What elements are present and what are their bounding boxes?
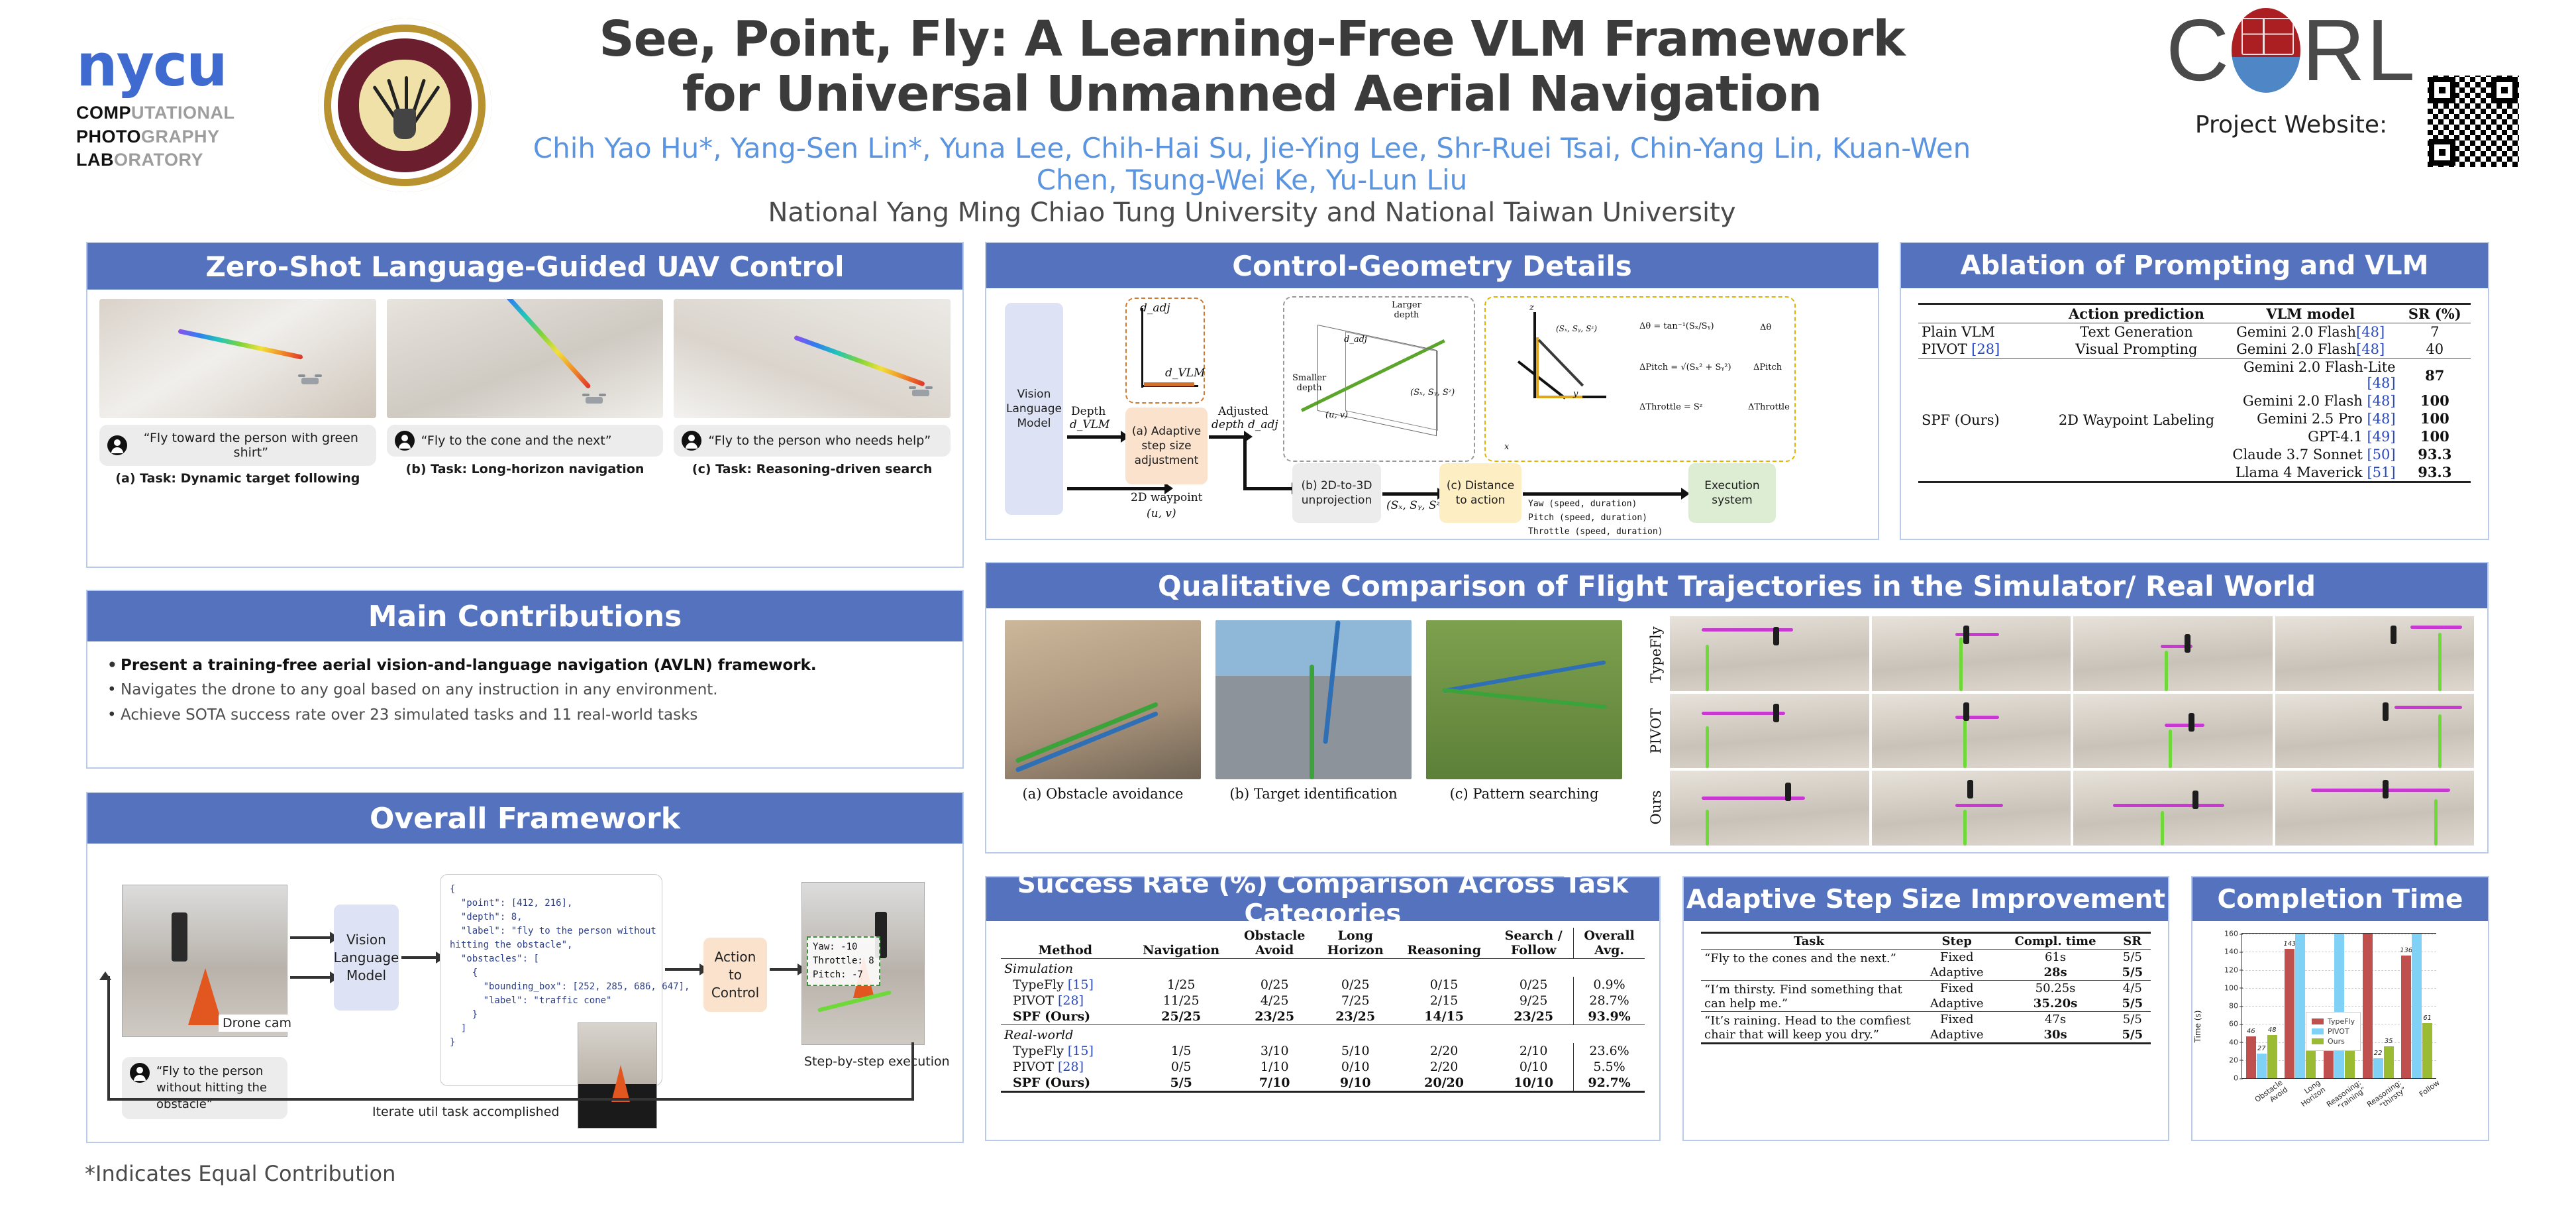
- cpl-line-1: COMPUTATIONAL: [76, 101, 295, 125]
- geometry-coords-label: (Sₓ, Sᵧ, Sᶻ): [1386, 499, 1445, 512]
- list-item: Navigates the drone to any goal based on…: [106, 678, 944, 702]
- cell-value: 1/5: [1129, 1043, 1233, 1059]
- geometry-sxyz-3d-label: (Sₓ, Sᵧ, Sᶻ): [1556, 324, 1597, 333]
- cell-method: SPF (Ours): [1001, 1075, 1129, 1092]
- table-row: “Fly to the cones and the next.” Fixed 6…: [1701, 950, 2151, 965]
- nycu-logo: nycu COMPUTATIONAL PHOTOGRAPHY LABORATOR…: [76, 36, 295, 172]
- cell-value: 5/10: [1316, 1043, 1394, 1059]
- chart-legend-item: Ours: [2312, 1037, 2355, 1046]
- chart-legend: TypeFlyPIVOTOurs: [2306, 1012, 2361, 1051]
- qual-grid-cell: [2275, 771, 2475, 846]
- cell-value: 0/25: [1233, 977, 1317, 993]
- cell-value: 9/25: [1494, 993, 1573, 1009]
- title-line-2: for Universal Unmanned Aerial Navigation: [503, 67, 2000, 122]
- title-block: See, Point, Fly: A Learning-Free VLM Fra…: [503, 12, 2000, 228]
- cell-value: 1/10: [1233, 1059, 1317, 1075]
- geometry-axis-z: z: [1529, 303, 1534, 313]
- cell-value: 0/10: [1494, 1059, 1573, 1075]
- cell-avg: 92.7%: [1574, 1075, 1645, 1092]
- col-compl-time: Compl. time: [1997, 933, 2114, 950]
- cell-method: TypeFly [15]: [1001, 1043, 1129, 1059]
- cell-sr: 7: [2399, 323, 2471, 341]
- chart-bar-value: 46: [2247, 1028, 2255, 1035]
- cpl-lab-wordmark: COMPUTATIONAL PHOTOGRAPHY LABORATORY: [76, 101, 295, 172]
- zeroshot-cell-a: “Fly toward the person with green shirt”…: [99, 299, 376, 486]
- corl-globe-icon: [2232, 8, 2300, 93]
- framework-step-execution-label: Step-by-step execution: [804, 1054, 950, 1069]
- cpl-line-2: PHOTOGRAPHY: [76, 125, 295, 149]
- panel-overall-framework: Overall Framework Drone cam “Fly to the …: [86, 792, 964, 1143]
- cell-model: Gemini 2.0 Flash [48]: [2222, 392, 2399, 410]
- cell-value: 7/10: [1233, 1075, 1317, 1092]
- cell-sr: 5/5: [2114, 965, 2151, 981]
- table-ablation: Action prediction VLM model SR (%) Plain…: [1918, 303, 2471, 483]
- geometry-eq-pitch: ΔPitch = √(Sₓ² + Sᵧ²): [1639, 362, 1731, 372]
- panel-completion-time: Completion Time Time (s) 020406080100120…: [2191, 876, 2489, 1141]
- qual-cell-a: (a) Obstacle avoidance: [1005, 620, 1201, 852]
- geometry-distance-box: (c) Distance to action: [1439, 463, 1521, 523]
- chart-bar: 136: [2401, 956, 2411, 1078]
- qual-grid-cell: [1872, 771, 2071, 846]
- zeroshot-caption-c: (c) Task: Reasoning-driven search: [674, 462, 951, 476]
- geometry-label-theta: Δθ: [1760, 323, 1771, 333]
- panel-title-framework: Overall Framework: [87, 793, 962, 844]
- cell-value: 3/10: [1233, 1043, 1317, 1059]
- geometry-waypoint-label: 2D waypoint: [1131, 491, 1202, 504]
- poster-header: nycu COMPUTATIONAL PHOTOGRAPHY LABORATOR…: [0, 0, 2576, 225]
- chart-bar: [2412, 934, 2422, 1078]
- panel-title-success-rate: Success Rate (%) Comparison Across Task …: [986, 877, 1659, 921]
- geometry-smaller-depth-label: Smaller depth: [1292, 373, 1326, 393]
- chart-bar: 143: [2285, 949, 2294, 1078]
- person-icon: [395, 431, 415, 451]
- panel-adaptive-step-size: Adaptive Step Size Improvement Task Step…: [1682, 876, 2169, 1141]
- zeroshot-cell-c: “Fly to the person who needs help” (c) T…: [674, 299, 951, 486]
- chart-bar-value: 61: [2423, 1015, 2432, 1022]
- col-long-horizon: Long Horizon: [1316, 928, 1394, 959]
- cell-value: 0/25: [1494, 977, 1573, 993]
- cell-sr: 93.3: [2399, 463, 2471, 482]
- cell-value: 0/5: [1129, 1059, 1233, 1075]
- cell-value: 20/20: [1394, 1075, 1494, 1092]
- person-icon: [682, 431, 701, 451]
- legend-label: Ours: [2328, 1037, 2345, 1046]
- geometry-depth-label: Depth: [1071, 405, 1106, 418]
- cell-value: 2/15: [1394, 993, 1494, 1009]
- group-header-row: Real-world: [1001, 1025, 1645, 1044]
- chart-bar: [2363, 934, 2373, 1078]
- cell-value: 23/25: [1494, 1009, 1573, 1025]
- col-reasoning: Reasoning: [1394, 928, 1494, 959]
- geometry-label-pitch: ΔPitch: [1753, 362, 1782, 372]
- cell-sr: 40: [2399, 341, 2471, 358]
- cell-value: 23/25: [1316, 1009, 1394, 1025]
- cell-sr: 93.3: [2399, 445, 2471, 463]
- cell-value: 14/15: [1394, 1009, 1494, 1025]
- table-row: TypeFly [15] 1/5 3/10 5/10 2/20 2/10 23.…: [1001, 1043, 1645, 1059]
- qualitative-real-world-grid: TypeFly PIVOT Ours: [1635, 608, 2487, 852]
- cell-sr: 5/5: [2114, 1027, 2151, 1044]
- qual-row-label-ours: Ours: [1642, 769, 1670, 846]
- chart-bar-value: 48: [2268, 1026, 2277, 1034]
- cell-avg: 5.5%: [1574, 1059, 1645, 1075]
- geometry-label-throttle: ΔThrottle: [1748, 402, 1790, 412]
- table-row: PIVOT [28] Visual Prompting Gemini 2.0 F…: [1918, 341, 2471, 358]
- group-label-real-world: Real-world: [1001, 1025, 1645, 1044]
- chart-bar: 22: [2373, 1058, 2383, 1078]
- group-label-simulation: Simulation: [1001, 959, 1645, 977]
- geometry-eq-theta: Δθ = tan⁻¹(Sₓ/Sᵧ): [1639, 321, 1714, 331]
- qual-grid-cell: [2275, 616, 2475, 691]
- geometry-dadj-label: d_adj: [1344, 335, 1367, 345]
- chart-bar-value: 143: [2283, 940, 2296, 948]
- geometry-uv-label: (u, v): [1325, 410, 1348, 420]
- qual-cell-c: (c) Pattern searching: [1426, 620, 1622, 852]
- cell-value: 1/25: [1129, 977, 1233, 993]
- qual-grid-cell: [1670, 694, 1869, 769]
- contributions-list: Present a training-free aerial vision-an…: [87, 641, 962, 740]
- chart-y-tick: 40: [2229, 1038, 2238, 1046]
- cell-model: Claude 3.7 Sonnet [50]: [2222, 445, 2399, 463]
- geometry-larger-depth-label: Larger depth: [1392, 300, 1421, 320]
- panel-qualitative-comparison: Qualitative Comparison of Flight Traject…: [985, 562, 2489, 853]
- cell-method: PIVOT [28]: [1001, 993, 1129, 1009]
- table-success-rate: Method Navigation Obstacle Avoid Long Ho…: [1001, 928, 1645, 1093]
- legend-swatch-icon: [2312, 1038, 2324, 1044]
- project-website-label: Project Website:: [2152, 111, 2430, 138]
- panel-title-zero-shot: Zero-Shot Language-Guided UAV Control: [87, 243, 962, 290]
- geometry-eq-throttle: ΔThrottle = Sᶻ: [1639, 402, 1702, 412]
- cell-value: 2/10: [1494, 1043, 1573, 1059]
- zeroshot-caption-a: (a) Task: Dynamic target following: [99, 471, 376, 486]
- ntu-seal-logo: [318, 19, 491, 192]
- qual-caption-a: (a) Obstacle avoidance: [1005, 786, 1201, 802]
- zeroshot-bubble-b: “Fly to the cone and the next”: [387, 425, 664, 457]
- chart-bar-value: 35: [2385, 1038, 2393, 1045]
- cell-avg: 0.9%: [1574, 977, 1645, 993]
- panel-title-ablation: Ablation of Prompting and VLM: [1901, 243, 2488, 288]
- cell-step: Adaptive: [1917, 996, 1997, 1012]
- cell-task: “I’m thirsty. Find something that can he…: [1701, 981, 1917, 1012]
- person-icon: [107, 435, 127, 455]
- cell-time: 50.25s: [1997, 981, 2114, 997]
- table-row: SPF (Ours) 2D Waypoint Labeling Gemini 2…: [1918, 358, 2471, 392]
- chart-legend-item: PIVOT: [2312, 1027, 2355, 1036]
- cell-step: Fixed: [1917, 1012, 1997, 1028]
- cell-value: 0/25: [1316, 977, 1394, 993]
- chart-y-tick: 120: [2224, 965, 2238, 974]
- table-adaptive: Task Step Compl. time SR “Fly to the con…: [1701, 932, 2151, 1044]
- cell-value: 23/25: [1233, 1009, 1317, 1025]
- chart-bar: 48: [2267, 1035, 2277, 1078]
- col-method: Method: [1001, 928, 1129, 959]
- cell-value: 11/25: [1129, 993, 1233, 1009]
- col-step: Step: [1917, 933, 1997, 950]
- cell-sr: 100: [2399, 427, 2471, 445]
- cell-value: 0/10: [1316, 1059, 1394, 1075]
- geometry-waypoint-symbol: (u, v): [1147, 507, 1176, 520]
- col-task: Task: [1701, 933, 1917, 950]
- cell-action: 2D Waypoint Labeling: [2051, 358, 2222, 482]
- cell-value: 2/20: [1394, 1059, 1494, 1075]
- chart-y-axis-label: Time (s): [2193, 1010, 2202, 1042]
- cell-avg: 28.7%: [1574, 993, 1645, 1009]
- table-row: “It’s raining. Head to the comfiest chai…: [1701, 1012, 2151, 1028]
- table-header-row: Task Step Compl. time SR: [1701, 933, 2151, 950]
- cell-value: 9/10: [1316, 1075, 1394, 1092]
- qual-cell-b: (b) Target identification: [1215, 620, 1412, 852]
- cell-model: GPT-4.1 [49]: [2222, 427, 2399, 445]
- zeroshot-quote-a: “Fly toward the person with green shirt”: [134, 431, 368, 460]
- chart-bar: 61: [2422, 1023, 2432, 1078]
- legend-label: TypeFly: [2328, 1017, 2355, 1026]
- equal-contribution-footnote: *Indicates Equal Contribution: [85, 1161, 395, 1186]
- chart-bar: 35: [2384, 1046, 2394, 1078]
- cell-value: 0/15: [1394, 977, 1494, 993]
- cell-model: Gemini 2.0 Flash[48]: [2222, 341, 2399, 358]
- author-list: Chih Yao Hu*, Yang-Sen Lin*, Yuna Lee, C…: [503, 133, 2000, 197]
- panel-title-geometry: Control-Geometry Details: [986, 243, 1878, 288]
- cell-method: SPF (Ours): [1001, 1009, 1129, 1025]
- cell-method: PIVOT [28]: [1001, 1059, 1129, 1075]
- col-sr: SR: [2114, 933, 2151, 950]
- chart-y-tick: 20: [2229, 1056, 2238, 1064]
- panel-success-rate: Success Rate (%) Comparison Across Task …: [985, 876, 1661, 1141]
- cell-sr: 100: [2399, 392, 2471, 410]
- table-row: “I’m thirsty. Find something that can he…: [1701, 981, 2151, 997]
- group-header-row: Simulation: [1001, 959, 1645, 977]
- title-line-1: See, Point, Fly: A Learning-Free VLM Fra…: [503, 12, 2000, 67]
- geometry-outputs: Yaw (speed, duration) Pitch (speed, dura…: [1528, 498, 1663, 539]
- table-row: SPF (Ours) 5/5 7/10 9/10 20/20 10/10 92.…: [1001, 1075, 1645, 1092]
- panel-title-adaptive: Adaptive Step Size Improvement: [1684, 877, 2168, 921]
- panel-title-qualitative: Qualitative Comparison of Flight Traject…: [986, 563, 2487, 608]
- cell-model: Gemini 2.5 Pro [48]: [2222, 410, 2399, 427]
- geometry-adjusted-label: Adjusted: [1218, 405, 1268, 418]
- cell-avg: 23.6%: [1574, 1043, 1645, 1059]
- cell-method: TypeFly [15]: [1001, 977, 1129, 993]
- cell-time: 35.20s: [1997, 996, 2114, 1012]
- col-method: [1918, 304, 2051, 323]
- corl-block: CRL Project Website:: [2152, 7, 2430, 138]
- legend-swatch-icon: [2312, 1028, 2324, 1034]
- legend-label: PIVOT: [2328, 1027, 2349, 1036]
- qual-grid-cell: [2073, 616, 2273, 691]
- framework-vlm-box: Vision Language Model: [334, 905, 399, 1011]
- table-row: PIVOT [28] 11/25 4/25 7/25 2/15 9/25 28.…: [1001, 993, 1645, 1009]
- cell-time: 61s: [1997, 950, 2114, 965]
- geometry-axis-x: x: [1504, 442, 1509, 452]
- bell-icon: [393, 109, 416, 139]
- chart-bar-group: 2235: [2359, 934, 2398, 1078]
- legend-swatch-icon: [2312, 1018, 2324, 1024]
- zeroshot-image-b: [387, 299, 664, 418]
- table-header-row: Method Navigation Obstacle Avoid Long Ho…: [1001, 928, 1645, 959]
- qual-row-labels: TypeFly PIVOT Ours: [1642, 616, 1670, 846]
- cell-time: 47s: [1997, 1012, 2114, 1028]
- table-row: TypeFly [15] 1/25 0/25 0/25 0/15 0/25 0.…: [1001, 977, 1645, 993]
- zeroshot-quote-b: “Fly to the cone and the next”: [421, 433, 612, 448]
- qr-code[interactable]: [2424, 72, 2523, 171]
- table-row: SPF (Ours) 25/25 23/25 23/25 14/15 23/25…: [1001, 1009, 1645, 1025]
- framework-inset-image: [578, 1022, 657, 1128]
- cell-value: 7/25: [1316, 993, 1394, 1009]
- cell-step: Adaptive: [1917, 965, 1997, 981]
- cell-model: Gemini 2.0 Flash-Lite [48]: [2222, 358, 2399, 392]
- framework-iterate-label: Iterate util task accomplished: [372, 1105, 559, 1119]
- chart-y-tick: 140: [2224, 948, 2238, 956]
- chart-bar-group: 13661: [2397, 934, 2436, 1078]
- panel-zero-shot-uav-control: Zero-Shot Language-Guided UAV Control “F…: [86, 242, 964, 568]
- framework-drone-cam-label: Drone cam: [219, 1015, 295, 1032]
- qual-grid-cell: [2073, 694, 2273, 769]
- geometry-vlm-box: Vision Language Model: [1005, 303, 1063, 515]
- col-navigation: Navigation: [1129, 928, 1233, 959]
- zeroshot-cell-b: “Fly to the cone and the next” (b) Task:…: [387, 299, 664, 486]
- framework-action-to-control-box: Action to Control: [703, 938, 767, 1012]
- cpl-line-3: LABORATORY: [76, 148, 295, 172]
- nycu-wordmark: nycu: [76, 36, 295, 95]
- qual-grid-cell: [1670, 771, 1869, 846]
- geometry-axis-y: y: [1573, 389, 1578, 399]
- cell-sr: 5/5: [2114, 1012, 2151, 1028]
- chart-bar-group: 14346: [2281, 934, 2320, 1078]
- cell-task: “It’s raining. Head to the comfiest chai…: [1701, 1012, 1917, 1044]
- cell-sr: 100: [2399, 410, 2471, 427]
- qual-image-target-identification: [1215, 620, 1412, 779]
- table-header-row: Action prediction VLM model SR (%): [1918, 304, 2471, 323]
- cell-method: Plain VLM: [1918, 323, 2051, 341]
- list-item: Achieve SOTA success rate over 23 simula…: [106, 703, 944, 728]
- zeroshot-caption-b: (b) Task: Long-horizon navigation: [387, 462, 664, 476]
- chart-bar-group: 5937: [2320, 934, 2359, 1078]
- cell-action: Text Generation: [2051, 323, 2222, 341]
- table-row: PIVOT [28] 0/5 1/10 0/10 2/20 0/10 5.5%: [1001, 1059, 1645, 1075]
- chart-y-tick: 80: [2229, 1002, 2238, 1011]
- cell-sr: 5/5: [2114, 950, 2151, 965]
- corl-logo: CRL: [2152, 7, 2430, 94]
- table-row: Plain VLM Text Generation Gemini 2.0 Fla…: [1918, 323, 2471, 341]
- list-item: Present a training-free aerial vision-an…: [106, 653, 944, 678]
- qual-grid-cell: [2073, 771, 2273, 846]
- cell-value: 25/25: [1129, 1009, 1233, 1025]
- page-title: See, Point, Fly: A Learning-Free VLM Fra…: [503, 12, 2000, 122]
- framework-instruction-text: “Fly to the person without hitting the o…: [156, 1063, 280, 1113]
- cell-value: 5/5: [1129, 1075, 1233, 1092]
- zeroshot-bubble-a: “Fly toward the person with green shirt”: [99, 425, 376, 466]
- geometry-execution-box: Execution system: [1688, 463, 1776, 523]
- cell-model: Gemini 2.0 Flash[48]: [2222, 323, 2399, 341]
- cell-avg: 93.9%: [1574, 1009, 1645, 1025]
- geometry-step-size-box: (a) Adaptive step size adjustment: [1125, 408, 1208, 484]
- geometry-plot-y-label: d_adj: [1140, 302, 1170, 315]
- cell-model: Llama 4 Maverick [51]: [2222, 463, 2399, 482]
- geometry-unprojection-box: (b) 2D-to-3D unprojection: [1292, 463, 1381, 523]
- chart-bar: [2295, 934, 2305, 1078]
- panel-control-geometry: Control-Geometry Details Vision Language…: [985, 242, 1879, 540]
- geometry-sxyz-label: (Sₓ, Sᵧ, Sᶻ): [1410, 388, 1455, 398]
- zeroshot-image-a: [99, 299, 376, 418]
- panel-ablation: Ablation of Prompting and VLM Action pre…: [1900, 242, 2489, 540]
- geometry-plot-x-label: d_VLM: [1165, 366, 1205, 380]
- chart-bars: 462748143465937223513661: [2242, 934, 2436, 1078]
- cell-value: 2/20: [1394, 1043, 1494, 1059]
- col-search-follow: Search / Follow: [1494, 928, 1573, 959]
- chart-legend-item: TypeFly: [2312, 1017, 2355, 1026]
- qual-grid-cell: [1872, 616, 2071, 691]
- zeroshot-bubble-c: “Fly to the person who needs help”: [674, 425, 951, 457]
- qual-grid-cell: [1872, 694, 2071, 769]
- qual-image-obstacle-avoidance: [1005, 620, 1201, 779]
- chart-bar-value: 136: [2400, 947, 2412, 954]
- col-vlm-model: VLM model: [2222, 304, 2399, 323]
- cell-sr: 5/5: [2114, 996, 2151, 1012]
- cell-sr: 87: [2399, 358, 2471, 392]
- cell-sr: 4/5: [2114, 981, 2151, 997]
- chart-x-tick: Follow: [2406, 1079, 2469, 1145]
- col-obstacle-avoid: Obstacle Avoid: [1233, 928, 1317, 959]
- person-icon: [130, 1063, 150, 1083]
- cell-step: Fixed: [1917, 981, 1997, 997]
- qual-grid-cell: [2275, 694, 2475, 769]
- zeroshot-quote-c: “Fly to the person who needs help”: [708, 433, 931, 448]
- qual-image-grid: [1670, 616, 2474, 846]
- col-action-prediction: Action prediction: [2051, 304, 2222, 323]
- affiliation: National Yang Ming Chiao Tung University…: [503, 197, 2000, 228]
- chart-bar: 46: [2246, 1036, 2256, 1078]
- qual-image-pattern-searching: [1426, 620, 1622, 779]
- cell-step: Adaptive: [1917, 1027, 1997, 1044]
- chart-y-tick: 160: [2224, 930, 2238, 938]
- zeroshot-image-c: [674, 299, 951, 418]
- cell-method: SPF (Ours): [1918, 358, 2051, 482]
- qual-grid-cell: [1670, 616, 1869, 691]
- chart-bar-value: 22: [2374, 1050, 2383, 1057]
- qualitative-sim-row: (a) Obstacle avoidance (b) Target identi…: [986, 608, 1635, 852]
- col-sr: SR (%): [2399, 304, 2471, 323]
- col-overall-avg: Overall Avg.: [1574, 928, 1645, 959]
- chart-plot-area: 020406080100120140160 462748143465937223…: [2241, 933, 2436, 1079]
- chart-y-tick: 100: [2224, 983, 2238, 992]
- qual-caption-b: (b) Target identification: [1215, 786, 1412, 802]
- qual-row-label-pivot: PIVOT: [1642, 692, 1670, 769]
- cell-method: PIVOT [28]: [1918, 341, 2051, 358]
- panel-title-contributions: Main Contributions: [87, 591, 962, 641]
- framework-hud-readout: Yaw: -10 Throttle: 8 Pitch: -7: [807, 936, 880, 986]
- cell-time: 30s: [1997, 1027, 2114, 1044]
- chart-y-tick: 60: [2229, 1020, 2238, 1028]
- chart-bar-value: 27: [2257, 1045, 2266, 1052]
- chart-bar: [2334, 934, 2344, 1078]
- cell-action: Visual Prompting: [2051, 341, 2222, 358]
- qual-row-label-typefly: TypeFly: [1642, 616, 1670, 692]
- qual-caption-c: (c) Pattern searching: [1426, 786, 1622, 802]
- completion-time-chart: Time (s) 020406080100120140160 462748143…: [2192, 921, 2488, 1140]
- cell-task: “Fly to the cones and the next.”: [1701, 950, 1917, 981]
- cell-value: 10/10: [1494, 1075, 1573, 1092]
- cell-step: Fixed: [1917, 950, 1997, 965]
- chart-x-tick-labels: Obstacle AvoidLong HorizonReasoning: “ra…: [2241, 1079, 2436, 1133]
- panel-title-completion: Completion Time: [2192, 877, 2488, 921]
- geometry-adjusted-symbol: depth d_adj: [1211, 418, 1278, 431]
- geometry-depth-symbol: d_VLM: [1070, 418, 1109, 431]
- chart-y-tick: 0: [2234, 1074, 2238, 1083]
- framework-instruction-bubble: “Fly to the person without hitting the o…: [122, 1057, 287, 1119]
- cell-value: 4/25: [1233, 993, 1317, 1009]
- chart-bar-group: 462748: [2242, 934, 2281, 1078]
- chart-bar: 27: [2257, 1054, 2267, 1078]
- cell-time: 28s: [1997, 965, 2114, 981]
